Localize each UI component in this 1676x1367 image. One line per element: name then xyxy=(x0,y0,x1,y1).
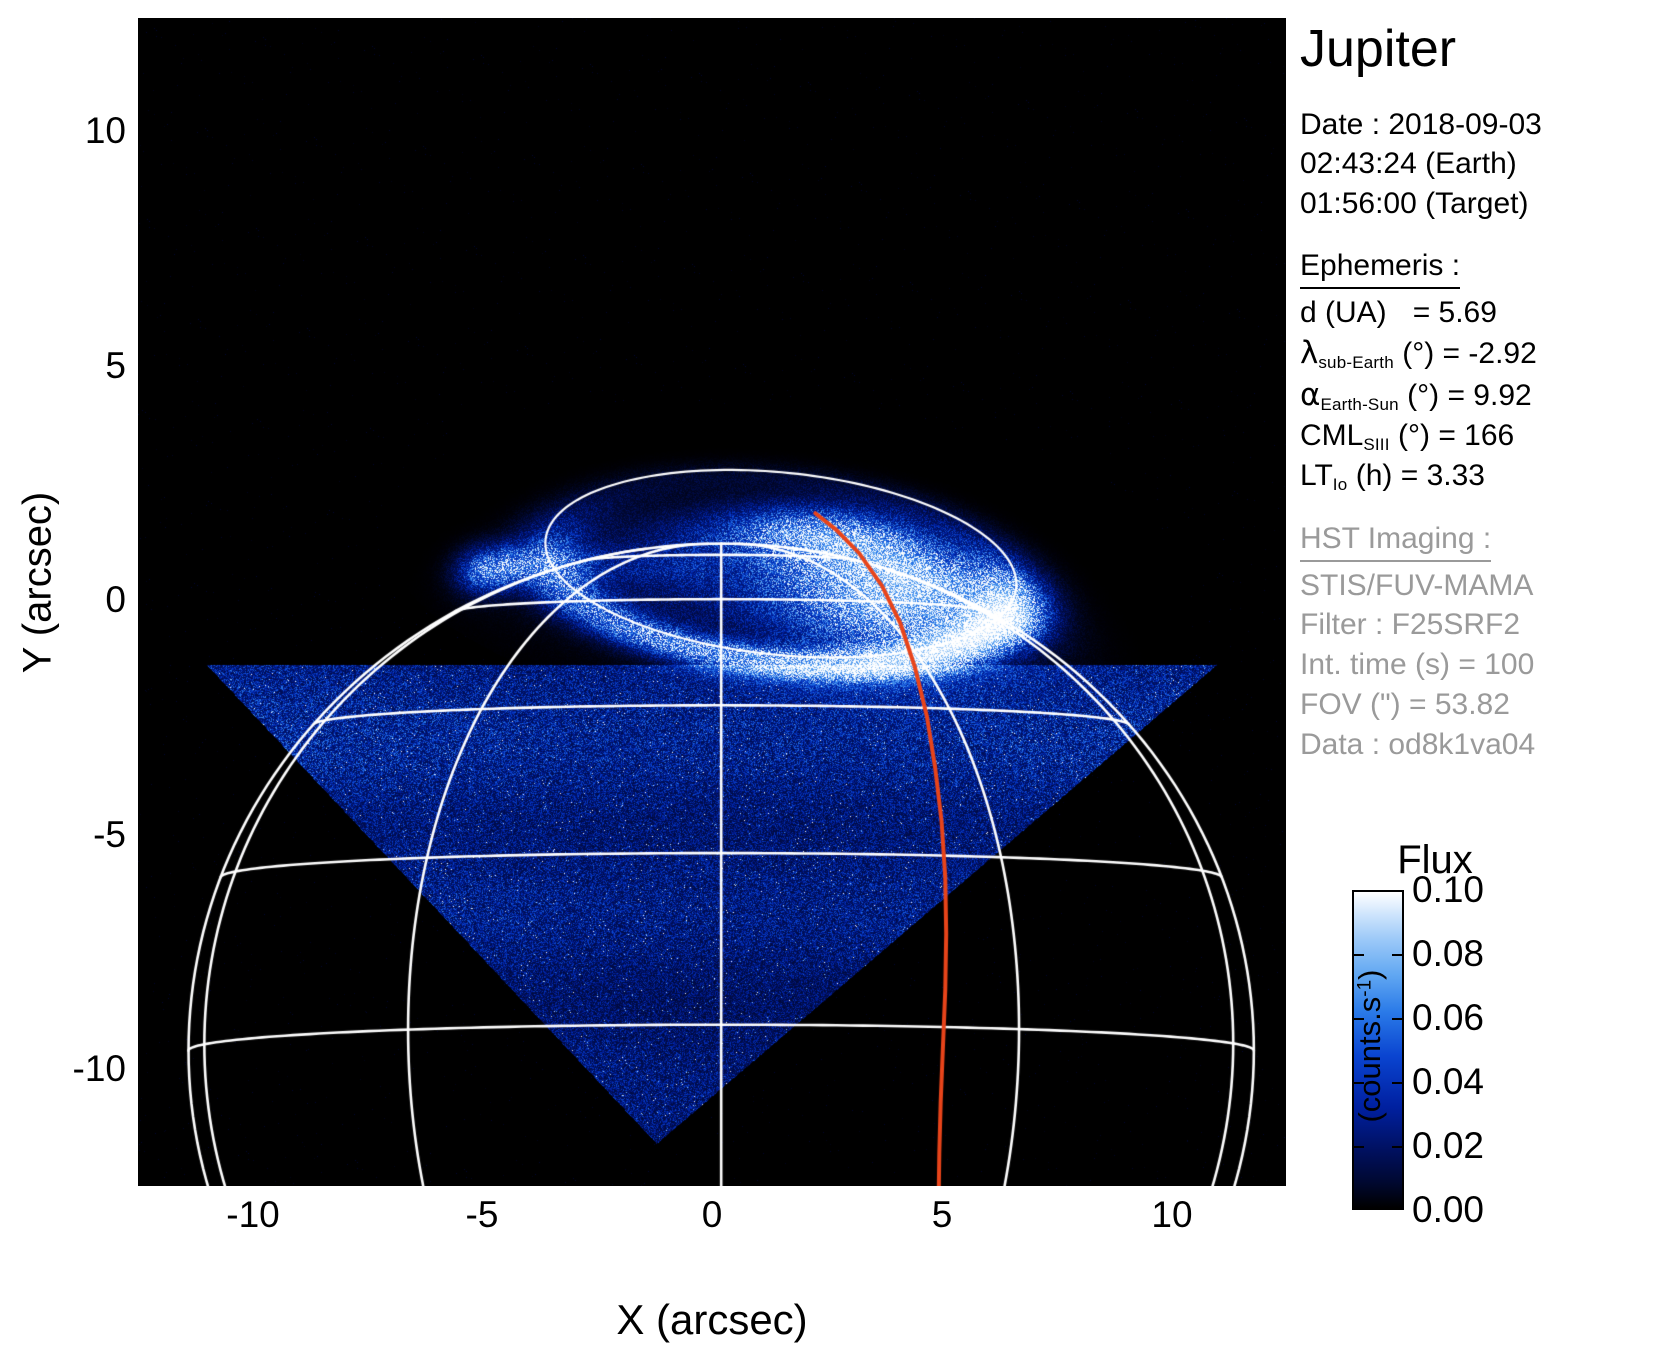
ephemeris-lt-row: LTIo (h) = 3.33 xyxy=(1300,456,1676,496)
colorbar-tick-label: 0.00 xyxy=(1412,1191,1484,1228)
x-axis-label: X (arcsec) xyxy=(402,1296,1022,1344)
alpha-symbol: α xyxy=(1300,377,1320,413)
observation-time-earth: 02:43:24 (Earth) xyxy=(1300,144,1676,184)
image-plot-area xyxy=(138,18,1286,1186)
hst-instrument: STIS/FUV-MAMA xyxy=(1300,566,1676,606)
lambda-subscript: sub-Earth xyxy=(1318,353,1394,372)
lt-label: LT xyxy=(1300,459,1333,492)
info-panel: Jupiter Date : 2018-09-03 02:43:24 (Eart… xyxy=(1300,10,1676,765)
jupiter-aurora-image xyxy=(138,18,1286,1186)
colorbar-unit-close: ) xyxy=(1352,970,1387,980)
colorbar-group: Flux 0.10 0.08 0.06 0.04 0.02 0.00 (coun… xyxy=(1300,838,1676,1238)
y-tick-label: -5 xyxy=(0,816,126,853)
colorbar-tick xyxy=(1352,890,1364,892)
hst-dataset-id: Data : od8k1va04 xyxy=(1300,725,1676,765)
y-tick-label: 5 xyxy=(0,347,126,384)
colorbar-tick-label: 0.08 xyxy=(1412,935,1484,972)
colorbar-tick-label: 0.10 xyxy=(1412,871,1484,908)
ephemeris-alpha-row: αEarth-Sun (°) = 9.92 xyxy=(1300,375,1676,416)
ephemeris-lambda-row: λsub-Earth (°) = -2.92 xyxy=(1300,333,1676,374)
ephemeris-heading: Ephemeris : xyxy=(1300,246,1460,289)
observation-date: Date : 2018-09-03 xyxy=(1300,105,1676,145)
ephemeris-cml-row: CMLSIII (°) = 166 xyxy=(1300,416,1676,456)
x-tick-label: 10 xyxy=(1112,1196,1232,1233)
alpha-unit: (°) xyxy=(1407,379,1439,412)
colorbar-unit-label: (counts.s-1) xyxy=(1352,916,1388,1176)
x-tick-label: -10 xyxy=(193,1196,313,1233)
lt-subscript: Io xyxy=(1333,475,1348,494)
cml-unit: (°) xyxy=(1398,419,1430,452)
lt-unit: (h) xyxy=(1356,459,1393,492)
target-title: Jupiter xyxy=(1300,22,1676,77)
colorbar-tick xyxy=(1392,1018,1404,1020)
hst-imaging-heading: HST Imaging : xyxy=(1300,519,1491,562)
lt-value: = 3.33 xyxy=(1401,459,1485,492)
cml-label: CML xyxy=(1300,419,1363,452)
ephemeris-distance-row: d (UA)= 5.69 xyxy=(1300,293,1676,333)
hst-fov: FOV (") = 53.82 xyxy=(1300,685,1676,725)
observation-time-target: 01:56:00 (Target) xyxy=(1300,184,1676,224)
colorbar-tick-label: 0.04 xyxy=(1412,1063,1484,1100)
y-axis-label: Y (arcsec) xyxy=(16,423,61,743)
hst-integration-time: Int. time (s) = 100 xyxy=(1300,645,1676,685)
ephemeris-distance-value: = 5.69 xyxy=(1413,296,1497,329)
colorbar-tick xyxy=(1392,1146,1404,1148)
x-tick-label: -5 xyxy=(422,1196,542,1233)
hst-filter: Filter : F25SRF2 xyxy=(1300,605,1676,645)
lambda-value: = -2.92 xyxy=(1443,337,1537,370)
ephemeris-distance-label: d (UA) xyxy=(1300,296,1387,329)
colorbar-unit-exponent: -1 xyxy=(1355,980,1376,997)
colorbar-unit-main: (counts.s xyxy=(1352,997,1387,1123)
y-tick-label: -10 xyxy=(0,1050,126,1087)
alpha-subscript: Earth-Sun xyxy=(1320,394,1398,413)
colorbar-tick-label: 0.02 xyxy=(1412,1127,1484,1164)
lambda-unit: (°) xyxy=(1402,337,1434,370)
x-tick-label: 0 xyxy=(652,1196,772,1233)
cml-value: = 166 xyxy=(1438,419,1514,452)
colorbar-tick xyxy=(1392,1082,1404,1084)
cml-subscript: SIII xyxy=(1363,435,1389,454)
colorbar-tick-label: 0.06 xyxy=(1412,999,1484,1036)
x-tick-label: 5 xyxy=(882,1196,1002,1233)
lambda-symbol: λ xyxy=(1300,335,1318,371)
colorbar-tick xyxy=(1392,954,1404,956)
alpha-value: = 9.92 xyxy=(1447,379,1531,412)
colorbar-tick xyxy=(1392,890,1404,892)
y-tick-label: 10 xyxy=(0,112,126,149)
